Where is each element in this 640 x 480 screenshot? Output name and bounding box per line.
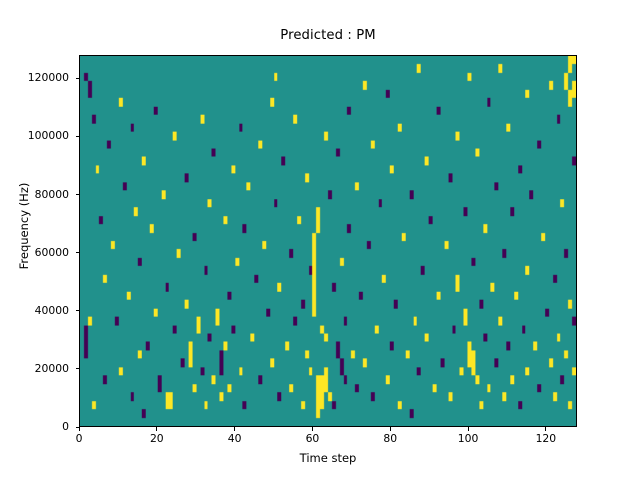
y-tick-mark	[76, 427, 80, 428]
x-tick-mark	[156, 427, 157, 431]
y-tick-label: 80000	[0, 188, 69, 201]
y-tick-mark	[76, 368, 80, 369]
x-tick-label: 100	[438, 432, 498, 445]
x-tick-label: 40	[205, 432, 265, 445]
y-tick-mark	[76, 252, 80, 253]
x-tick-mark	[390, 427, 391, 431]
y-tick-mark	[76, 194, 80, 195]
y-tick-label: 100000	[0, 129, 69, 142]
chart-title: Predicted : PM	[79, 28, 577, 43]
y-tick-label: 120000	[0, 71, 69, 84]
figure-canvas: Predicted : PM 020406080100120 020000400…	[0, 0, 640, 480]
y-tick-label: 60000	[0, 246, 69, 259]
y-tick-label: 40000	[0, 304, 69, 317]
y-tick-mark	[76, 310, 80, 311]
y-tick-mark	[76, 136, 80, 137]
x-tick-label: 60	[282, 432, 342, 445]
x-tick-mark	[234, 427, 235, 431]
x-tick-mark	[468, 427, 469, 431]
x-tick-mark	[312, 427, 313, 431]
heatmap-image	[80, 56, 576, 426]
y-tick-label: 20000	[0, 362, 69, 375]
x-tick-label: 80	[360, 432, 420, 445]
x-axis-label: Time step	[79, 451, 577, 465]
heatmap-axes	[79, 55, 577, 427]
y-axis-label: Frequency (Hz)	[17, 156, 31, 296]
y-tick-mark	[76, 78, 80, 79]
x-tick-label: 20	[127, 432, 187, 445]
x-tick-mark	[545, 427, 546, 431]
y-tick-label: 0	[0, 420, 69, 433]
x-tick-label: 0	[49, 432, 109, 445]
x-tick-label: 120	[516, 432, 576, 445]
x-tick-mark	[79, 427, 80, 431]
